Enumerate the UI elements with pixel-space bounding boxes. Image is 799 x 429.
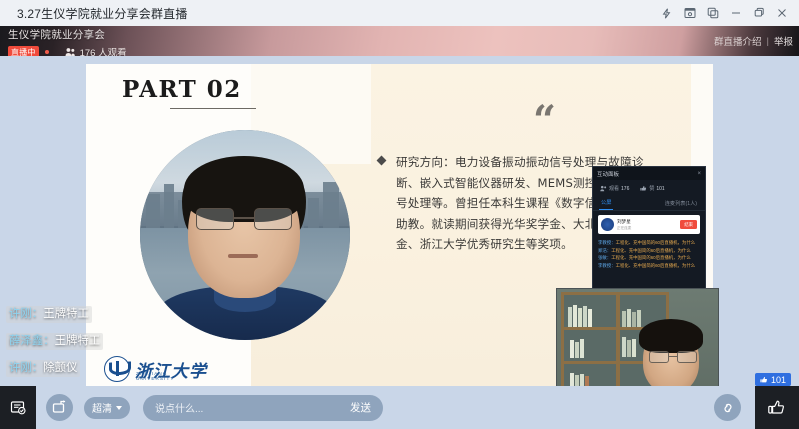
nested-speaker-card: 刘梦星 正在连麦 结束 — [598, 215, 700, 234]
webcam-pip[interactable] — [556, 288, 719, 386]
nested-interaction-panel: 互动面板 × 观看 176 赞 101 公屏 连麦列表(1人) — [592, 166, 706, 294]
chevron-down-icon — [116, 406, 122, 410]
viewer-count: 176 人观看 — [65, 45, 127, 56]
viewer-count-text: 176 人观看 — [80, 45, 127, 56]
chat-overlay: 许刚：王牌特工 薛泽鑫：王牌特工 许刚：除颤仪 王意林：不好意思，左中是血常规仪… — [0, 304, 270, 386]
report-link[interactable]: 举报 — [774, 34, 793, 48]
nested-panel-tabs: 公屏 连麦列表(1人) — [593, 196, 705, 211]
nested-viewers-stat: 观看 176 — [600, 185, 629, 192]
share-screen-icon — [52, 400, 67, 415]
live-dot-icon — [45, 50, 49, 54]
nested-likes-stat: 赞 101 — [640, 185, 664, 192]
slide-title-rule — [170, 108, 256, 109]
maximize-icon[interactable] — [747, 2, 770, 24]
send-button[interactable]: 发送 — [350, 400, 371, 415]
room-name: 生仪学院就业分享会 — [8, 27, 127, 42]
nested-panel-title: 互动面板 — [597, 170, 619, 178]
quality-selector[interactable]: 超清 — [84, 397, 130, 419]
nested-message-list: 李教授：工程化、充中国简的60后直播机，为什么 郑浩：工程化、充中国简的60后直… — [593, 238, 705, 273]
list-item: 许刚：除颤仪 — [0, 358, 270, 385]
chat-nickname: 许刚 — [9, 308, 32, 320]
window-title: 3.27生仪学院就业分享会群直播 — [17, 5, 188, 22]
nested-viewers-value: 176 — [621, 186, 629, 192]
chat-input-placeholder: 说点什么... — [155, 400, 203, 415]
stream-header-left: 生仪学院就业分享会 直播中 176 人观看 — [8, 27, 127, 56]
bottom-right-controls: 101 — [714, 386, 799, 429]
list-item: 李教授：工程化、充中国简的60后直播机，为什么 — [598, 263, 700, 269]
video-stage[interactable]: PART 02 “ — [0, 56, 799, 386]
quality-value: 超清 — [92, 400, 112, 415]
live-stream-window: 3.27生仪学院就业分享会群直播 生仪学院就业分享会 — [0, 0, 799, 429]
stream-meta: 直播中 176 人观看 — [8, 45, 127, 56]
nested-panel-stats: 观看 176 赞 101 — [593, 180, 705, 196]
thumbs-up-icon — [767, 398, 787, 418]
nested-likes-label: 赞 — [649, 185, 654, 192]
bullet-diamond-icon — [377, 156, 387, 166]
nested-card-status: 正在连麦 — [617, 226, 680, 231]
nested-panel-titlebar: 互动面板 × — [593, 167, 705, 180]
stream-header: 生仪学院就业分享会 直播中 176 人观看 群直播介绍 | 举报 — [0, 26, 799, 56]
copy-icon[interactable] — [701, 2, 724, 24]
like-icon — [640, 185, 647, 192]
header-separator: | — [767, 36, 769, 47]
list-item: 许刚：王牌特工 — [0, 304, 270, 331]
nested-card-text: 刘梦星 正在连麦 — [617, 219, 680, 231]
live-badge: 直播中 — [8, 46, 39, 57]
link-button[interactable] — [714, 394, 741, 421]
like-count-value: 101 — [771, 375, 786, 385]
nested-viewers-label: 观看 — [609, 185, 619, 192]
document-check-icon — [10, 399, 27, 416]
chat-nickname: 薛泽鑫 — [9, 335, 43, 347]
like-icon — [760, 376, 768, 384]
close-icon[interactable] — [770, 2, 793, 24]
nested-card-name: 刘梦星 — [617, 219, 680, 225]
window-controls — [655, 0, 799, 26]
list-item: 张敏：工程化、充中国简的60后直播机，为什么 — [598, 255, 700, 261]
pin-window-icon[interactable] — [678, 2, 701, 24]
stream-intro-link[interactable]: 群直播介绍 — [714, 34, 762, 48]
nested-close-icon[interactable]: × — [697, 171, 701, 177]
list-item: 郑浩：工程化、充中国简的60后直播机，为什么 — [598, 248, 700, 254]
nested-tab-public-chat[interactable]: 公屏 — [599, 196, 613, 210]
avatar — [601, 218, 614, 231]
chat-text: 王牌特工 — [55, 335, 101, 347]
title-bar: 3.27生仪学院就业分享会群直播 — [0, 0, 799, 26]
nested-end-button[interactable]: 结束 — [680, 220, 697, 229]
share-screen-button[interactable] — [46, 394, 73, 421]
minimize-icon[interactable] — [724, 2, 747, 24]
lightning-icon[interactable] — [655, 2, 678, 24]
chat-text: 王牌特工 — [43, 308, 89, 320]
nested-likes-value: 101 — [656, 186, 664, 192]
chat-input[interactable]: 说点什么... 发送 — [143, 395, 383, 421]
like-count-badge: 101 — [755, 373, 791, 386]
viewers-icon — [600, 185, 607, 192]
viewers-icon — [65, 47, 76, 56]
bottom-toolbar: 超清 说点什么... 发送 101 — [0, 386, 799, 429]
slide-part-title: PART 02 — [122, 76, 242, 103]
list-item: 薛泽鑫：王牌特工 — [0, 331, 270, 358]
link-icon — [720, 400, 736, 416]
document-check-button[interactable] — [0, 386, 36, 429]
stream-header-right: 群直播介绍 | 举报 — [714, 34, 793, 48]
list-item: 李教授：工程化、充中国简的60后直播机，为什么 — [598, 240, 700, 246]
like-button[interactable]: 101 — [755, 386, 799, 429]
quote-mark-icon: “ — [533, 101, 554, 141]
nested-tab-mic-list[interactable]: 连麦列表(1人) — [663, 197, 699, 210]
chat-nickname: 许刚 — [9, 362, 32, 374]
chat-text: 除颤仪 — [43, 362, 77, 374]
